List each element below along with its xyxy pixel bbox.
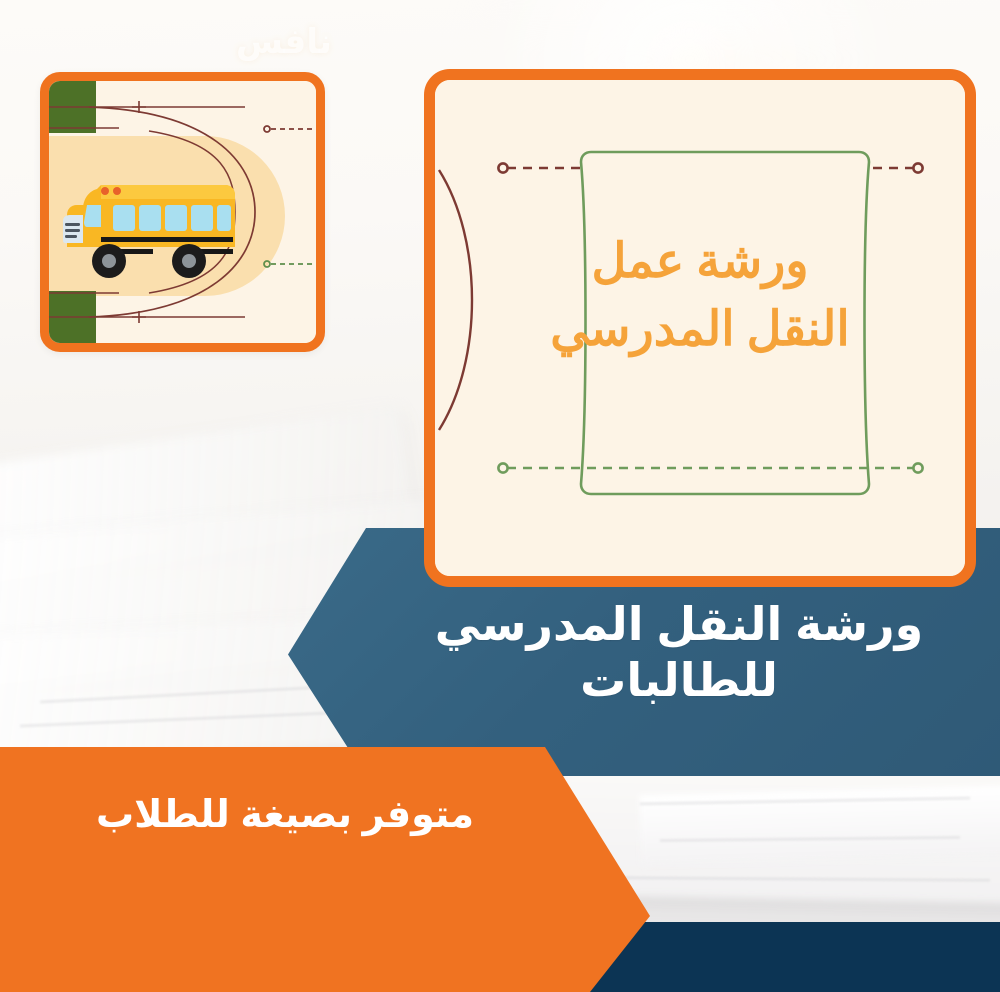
orange-availability-banner: متوفر بصيغة للطلاب <box>0 747 650 992</box>
thumbnail-card-paper <box>49 81 316 343</box>
blue-banner-text-block: ورشة النقل المدرسي للطالبات <box>435 596 923 708</box>
main-card-title-line-2: النقل المدرسي <box>435 296 965 364</box>
school-bus-icon <box>57 165 247 281</box>
blue-banner-line-1: ورشة النقل المدرسي <box>435 596 923 652</box>
main-card-paper: ورشة عمل النقل المدرسي <box>435 80 965 576</box>
main-card-title: ورشة عمل النقل المدرسي <box>435 228 965 364</box>
thumb-top-dash-endpoint <box>264 126 270 132</box>
thumb-bottom-dash-endpoint <box>264 261 270 267</box>
bottom-dash-endpoint-right <box>913 463 922 472</box>
orange-banner-text: متوفر بصيغة للطلاب <box>96 793 474 839</box>
bottom-dash-endpoint-left <box>498 463 507 472</box>
blue-banner-line-2: للطالبات <box>435 652 923 708</box>
poster-canvas: نافس ورشة النقل المدرسي للطالبات متوفر ب… <box>0 0 1000 992</box>
main-cover-card[interactable]: ورشة عمل النقل المدرسي <box>424 69 976 587</box>
main-card-title-line-1: ورشة عمل <box>435 228 965 296</box>
top-dash-endpoint-right <box>913 163 922 172</box>
thumbnail-cover-card[interactable] <box>40 72 325 352</box>
top-dash-endpoint-left <box>498 163 507 172</box>
